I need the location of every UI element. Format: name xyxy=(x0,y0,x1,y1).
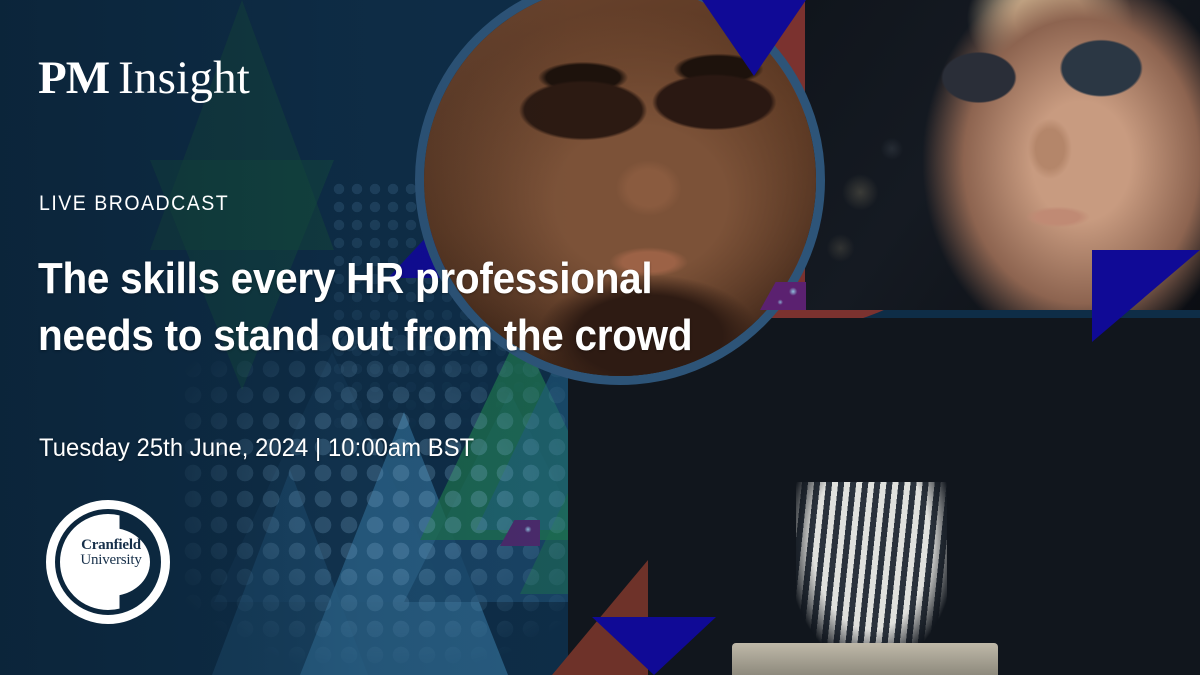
cranfield-logo-text: Cranfield University xyxy=(72,538,150,569)
promo-banner: PMInsight LIVE BROADCAST The skills ever… xyxy=(0,0,1200,675)
event-datetime: Tuesday 25th June, 2024 | 10:00am BST xyxy=(39,434,474,463)
cranfield-university-logo: Cranfield University xyxy=(46,500,170,624)
brand-logo-pm-insight: PMInsight xyxy=(38,55,250,102)
photo-team-striped-shirt xyxy=(796,482,948,653)
accent-triangle-blue-right xyxy=(1092,250,1200,342)
page-title: The skills every HR professional needs t… xyxy=(38,250,719,364)
cranfield-name-line-1: Cranfield xyxy=(72,538,150,553)
cranfield-name-line-2: University xyxy=(72,553,150,568)
eyebrow-live-broadcast: LIVE BROADCAST xyxy=(39,192,229,216)
headline-line-2: needs to stand out from the crowd xyxy=(38,311,692,360)
brand-logo-pm: PM xyxy=(38,52,109,104)
headline-line-1: The skills every HR professional xyxy=(38,254,652,303)
content-column: PMInsight LIVE BROADCAST The skills ever… xyxy=(38,0,798,675)
brand-logo-insight: Insight xyxy=(118,52,250,104)
